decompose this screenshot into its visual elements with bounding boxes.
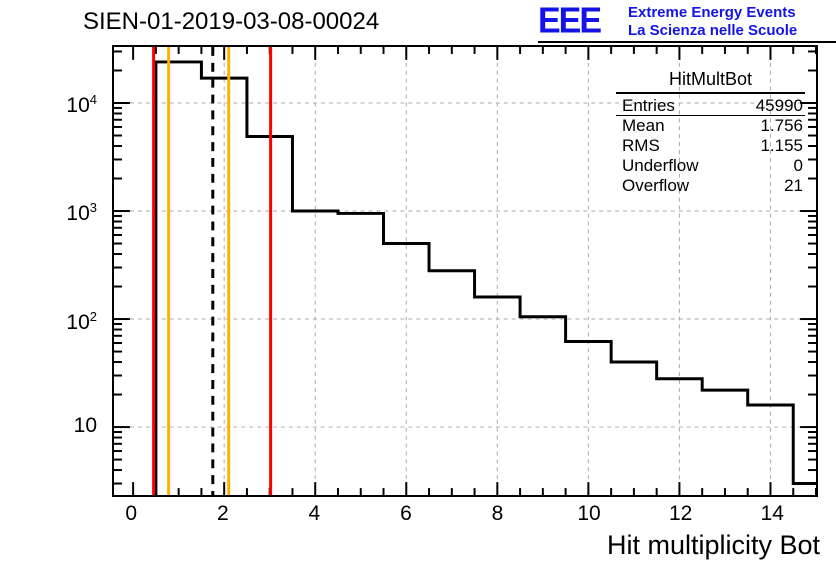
eee-logo: EEE Extreme Energy Events La Scienza nel… [538,2,836,42]
logo-line-2: La Scienza nelle Scuole [628,23,797,38]
stats-row-value: 45990 [756,95,803,117]
x-axis-tick-label: 2 [203,502,243,526]
stats-divider-top [616,92,805,94]
stats-row-value: 1.155 [760,135,803,157]
stats-row: Underflow0 [612,155,809,177]
stats-row-value: 0 [794,155,803,177]
header-divider [538,41,836,43]
stats-row-name: Overflow [622,175,689,197]
stats-row-value: 21 [784,175,803,197]
stats-box: HitMultBot Entries45990Mean1.756RMS1.155… [612,69,809,195]
y-axis-tick-label: 10 [74,415,97,436]
y-axis-tick-label: 103 [66,197,97,224]
stats-title: HitMultBot [612,69,809,90]
x-axis-tick-label: 4 [294,502,334,526]
x-axis-title: Hit multiplicity Bot [607,530,820,561]
logo-line-1: Extreme Energy Events [628,5,796,20]
stats-row-name: Underflow [622,155,699,177]
stats-row-name: Entries [622,95,675,117]
chart-canvas: SIEN-01-2019-03-08-00024 EEE Extreme Ene… [0,0,836,572]
stats-row-name: Mean [622,115,665,137]
y-axis-tick-label: 102 [66,306,97,333]
stats-row: Entries45990 [612,95,809,117]
logo-mark: EEE [538,3,600,39]
page-title: SIEN-01-2019-03-08-00024 [83,8,379,36]
stats-row: Overflow21 [612,175,809,197]
x-axis-tick-labels: 02468101214 [0,502,836,532]
stats-row-name: RMS [622,135,660,157]
x-axis-tick-label: 12 [661,502,701,526]
y-axis-tick-labels: 10102103104 [0,45,105,497]
stats-row: Mean1.756 [612,115,809,137]
x-axis-tick-label: 0 [111,502,151,526]
x-axis-tick-label: 6 [386,502,426,526]
y-axis-tick-label: 104 [66,89,97,116]
x-axis-tick-label: 10 [569,502,609,526]
stats-row: RMS1.155 [612,135,809,157]
x-axis-tick-label: 14 [752,502,792,526]
x-axis-tick-label: 8 [478,502,518,526]
stats-row-value: 1.756 [760,115,803,137]
